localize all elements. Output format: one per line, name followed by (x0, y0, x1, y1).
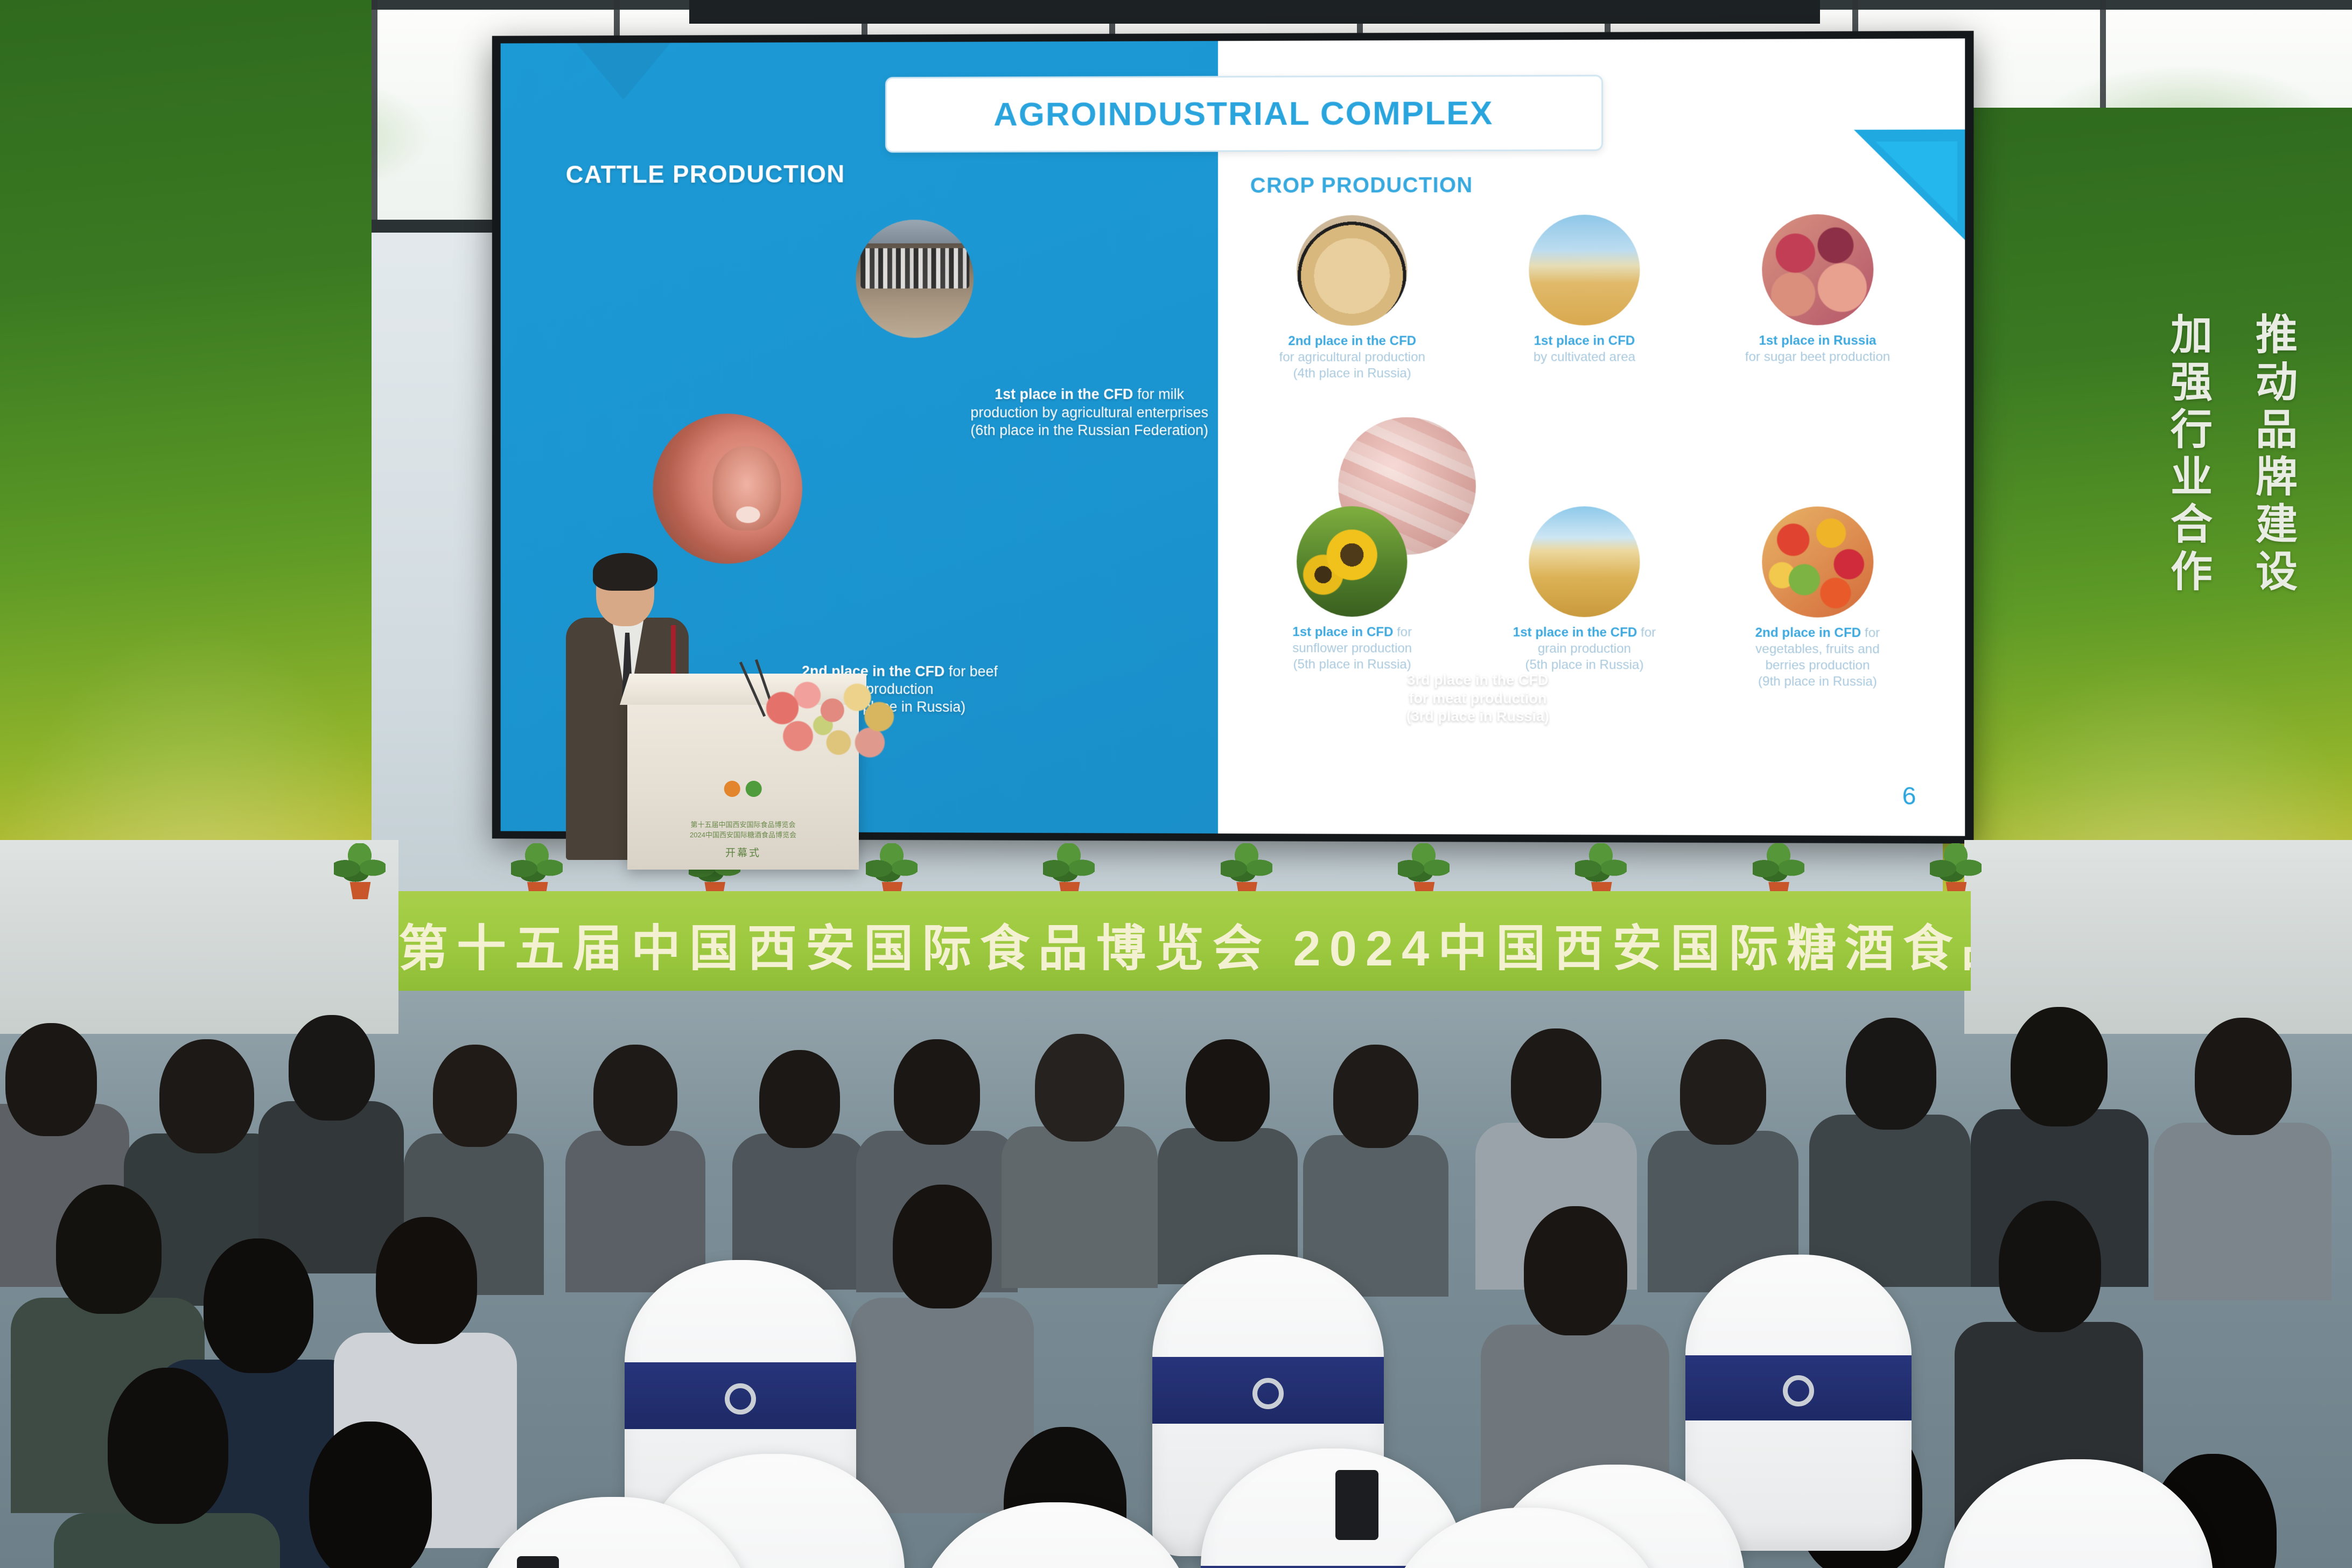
milk-caption-line3: (6th place in the Russian Federation) (970, 422, 1208, 438)
chevron-down-icon (576, 41, 671, 100)
cattle-production-heading: CATTLE PRODUCTION (566, 159, 845, 189)
crop-caption: 1st place in Russia for sugar beet produ… (1745, 333, 1890, 366)
audience-member (565, 1045, 705, 1282)
meat-production-caption: 3rd place in the CFD for meat production… (1257, 671, 1698, 726)
wheat-field-photo (1529, 214, 1640, 325)
crop-caption-line2: for agricultural production (1279, 350, 1425, 365)
sugar-beet-photo (1762, 214, 1873, 325)
slide-page-number: 6 (1902, 781, 1916, 810)
chair-knot-icon (1252, 1378, 1284, 1409)
right-banner-column-2: 加强行业合作 (2158, 312, 2218, 597)
podium-logo-row (648, 781, 838, 797)
banquet-chair (1384, 1508, 1669, 1568)
audience-member (732, 1050, 867, 1282)
crop-caption-line3: (5th place in Russia) (1525, 657, 1643, 673)
audience-member (54, 1368, 280, 1568)
leaf-circle-logo-icon (746, 781, 762, 797)
sunflower-photo (1297, 506, 1408, 617)
milk-production-caption: 1st place in the CFD for milk production… (754, 386, 1426, 440)
right-banner-text-columns: 推动品牌建设 加强行业合作 (1943, 312, 2304, 597)
crop-caption-line2: sunflower production (1292, 641, 1412, 655)
fruits-vegetables-photo (1762, 506, 1873, 617)
crop-caption-line3: (5th place in Russia) (1293, 657, 1411, 671)
podium-event-sign: 第十五届中国西安国际食品博览会 2024中国西安国际糖酒食品博览会 开幕式 (648, 781, 838, 862)
crop-caption-line2: by cultivated area (1534, 350, 1635, 365)
right-green-banner: 推动品牌建设 加强行业合作 (1943, 108, 2352, 948)
audience-area (0, 883, 2352, 1568)
left-green-banner: 创新消费场景 扩大消费需求 (0, 0, 372, 948)
presenter-hair (593, 553, 657, 591)
crop-caption: 1st place in CFD for sunflower productio… (1292, 624, 1412, 673)
crop-cell: 1st place in the CFD for grain productio… (1475, 506, 1695, 787)
chair-knot-icon (725, 1383, 756, 1415)
crop-caption-line2: vegetables, fruits and (1755, 642, 1879, 657)
crop-caption: 2nd place in the CFD for agricultural pr… (1279, 333, 1425, 382)
crop-cell: 2nd place in CFD for vegetables, fruits … (1707, 506, 1928, 788)
chair-knot-icon (1783, 1375, 1814, 1406)
beef-caption-rest: for beef (944, 663, 998, 680)
audience-member (1158, 1039, 1298, 1276)
crop-caption-bold-suffix: for (1637, 625, 1656, 640)
crop-caption-bold: 2nd place in CFD (1755, 625, 1861, 640)
meat-caption-line2: for meat production (1409, 690, 1546, 706)
conference-room: 创新消费场景 扩大消费需求 推动品牌建设 加强行业合作 AGROINDUSTRI… (0, 0, 2352, 1568)
crop-caption-bold-suffix: for (1861, 626, 1880, 640)
grain-bowl-photo (1297, 215, 1408, 326)
slide-title-pill: AGROINDUSTRIAL COMPLEX (885, 75, 1603, 153)
flame-logo-icon (724, 781, 740, 797)
crop-caption-bold: 1st place in the CFD (1513, 625, 1637, 640)
milk-caption-bold: 1st place in the CFD (995, 386, 1133, 402)
crop-caption-line4: (9th place in Russia) (1758, 674, 1877, 689)
audience-member (2154, 1018, 2332, 1287)
crop-caption-line3: berries production (1765, 658, 1870, 673)
podium-sign-line2: 2024中国西安国际糖酒食品博览会 (648, 830, 838, 841)
audience-member (253, 1422, 485, 1568)
crop-caption-line2: for sugar beet production (1745, 349, 1890, 364)
window-mullion (372, 0, 377, 232)
ceiling-strip (689, 0, 1820, 24)
crop-cell: 1st place in CFD for sunflower productio… (1243, 506, 1461, 787)
podium-sign-line3: 开幕式 (648, 846, 838, 862)
crop-caption-bold-suffix: for (1393, 625, 1412, 639)
wheat-ears-photo (1529, 506, 1640, 617)
audience-member (1809, 1018, 1971, 1276)
milk-caption-rest: for milk (1133, 386, 1184, 402)
crop-cell: 1st place in CFD by cultivated area (1475, 214, 1695, 495)
crop-caption-line2: grain production (1538, 641, 1631, 656)
meat-caption-line3: (3rd place in Russia) (1406, 708, 1549, 725)
left-banner-text-columns: 创新消费场景 扩大消费需求 (43, 81, 372, 365)
crop-caption-bold: 2nd place in the CFD (1288, 334, 1416, 348)
crop-caption-bold: 1st place in CFD (1534, 333, 1635, 348)
smartphone (517, 1556, 559, 1568)
crop-caption: 2nd place in CFD for vegetables, fruits … (1755, 625, 1880, 690)
crop-caption-bold: 1st place in CFD (1292, 625, 1393, 639)
banquet-chair (915, 1502, 1195, 1568)
smartphone (1335, 1470, 1378, 1540)
right-banner-column-1: 推动品牌建设 (2243, 312, 2304, 597)
crop-caption-line3: (4th place in Russia) (1293, 366, 1411, 381)
meat-caption-bold: 3rd place in the CFD (1407, 672, 1548, 689)
milk-caption-line2: production by agricultural enterprises (970, 404, 1208, 421)
crop-cell: 2nd place in the CFD for agricultural pr… (1243, 215, 1461, 495)
banquet-chair (474, 1497, 754, 1568)
flower-bouquet (751, 665, 907, 773)
crop-caption-bold: 1st place in Russia (1759, 333, 1876, 348)
page-title: AGROINDUSTRIAL COMPLEX (993, 94, 1493, 134)
audience-member (1303, 1045, 1448, 1287)
crop-caption: 1st place in the CFD for grain productio… (1513, 625, 1656, 674)
banquet-chair (1944, 1459, 2213, 1568)
dairy-cows-photo (856, 220, 974, 338)
crop-cell: 1st place in Russia for sugar beet produ… (1707, 214, 1928, 495)
crop-production-heading: CROP PRODUCTION (1250, 173, 1473, 198)
audience-member (1648, 1039, 1798, 1282)
podium-sign-line1: 第十五届中国西安国际食品博览会 (648, 820, 838, 830)
crop-caption: 1st place in CFD by cultivated area (1534, 333, 1635, 366)
